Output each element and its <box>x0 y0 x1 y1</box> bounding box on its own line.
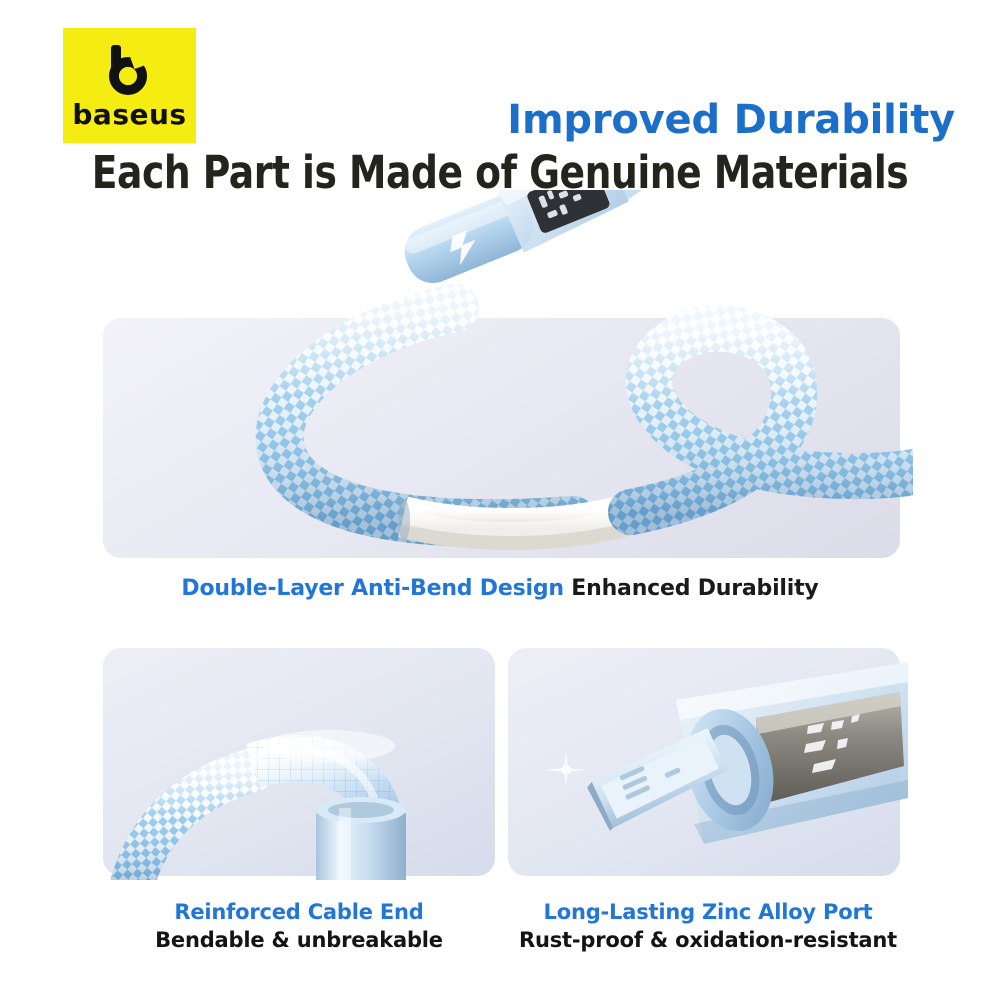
lightning-connector <box>392 190 684 295</box>
baseus-b-mark-icon <box>107 45 153 95</box>
caption-accent-text: Double-Layer Anti-Bend Design <box>181 576 563 601</box>
panel-double-layer <box>103 318 900 558</box>
caption-double-layer: Double-Layer Anti-Bend Design Enhanced D… <box>0 574 1000 604</box>
accent-headline: Improved Durability <box>0 97 955 143</box>
caption-zinc-alloy-port: Long-Lasting Zinc Alloy Port Rust-proof … <box>508 898 908 954</box>
panel-zinc-alloy-port <box>508 648 900 876</box>
caption-reinforced-end: Reinforced Cable End Bendable & unbreaka… <box>103 898 495 954</box>
caption-bl-sub: Bendable & unbreakable <box>103 926 495 954</box>
panel-reinforced-end <box>103 648 495 876</box>
caption-plain-text: Enhanced Durability <box>571 576 818 601</box>
product-feature-page: baseus Improved Durability Each Part is … <box>0 0 1000 1000</box>
caption-br-sub: Rust-proof & oxidation-resistant <box>508 926 908 954</box>
caption-br-title: Long-Lasting Zinc Alloy Port <box>508 898 908 926</box>
page-title: Each Part is Made of Genuine Materials <box>35 146 965 200</box>
caption-bl-title: Reinforced Cable End <box>103 898 495 926</box>
